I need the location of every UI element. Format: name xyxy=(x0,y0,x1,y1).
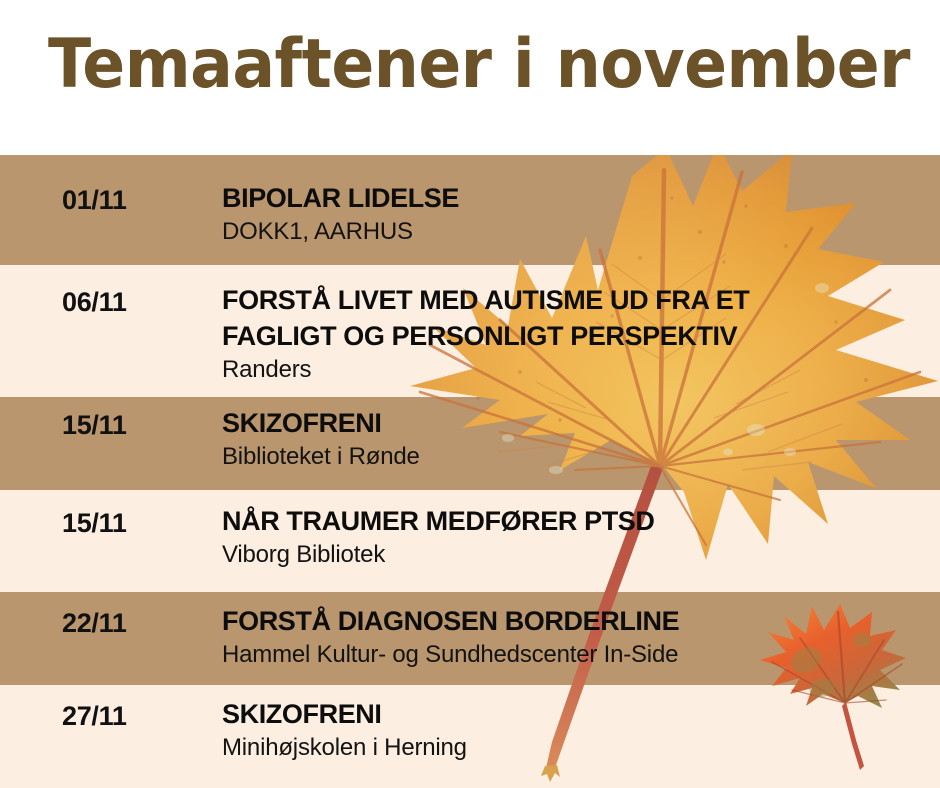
event-title: BIPOLAR LIDELSE xyxy=(222,180,930,216)
poster-canvas: 01/11BIPOLAR LIDELSEDOKK1, AARHUS06/11FO… xyxy=(0,0,940,788)
event-venue: Randers xyxy=(222,355,930,385)
event-body: SKIZOFRENIBiblioteket i Rønde xyxy=(222,405,930,472)
event-title: SKIZOFRENI xyxy=(222,405,930,441)
event-venue: DOKK1, AARHUS xyxy=(222,217,930,247)
event-date: 27/11 xyxy=(62,701,127,731)
event-body: FORSTÅ DIAGNOSEN BORDERLINEHammel Kultur… xyxy=(222,603,930,670)
event-title: FORSTÅ LIVET MED AUTISME UD FRA ET FAGLI… xyxy=(222,282,930,354)
title-bar: Temaaftener i november xyxy=(0,0,940,155)
event-title: FORSTÅ DIAGNOSEN BORDERLINE xyxy=(222,603,930,639)
event-date: 15/11 xyxy=(62,508,127,538)
event-title: NÅR TRAUMER MEDFØRER PTSD xyxy=(222,503,930,539)
event-venue: Hammel Kultur- og Sundhedscenter In-Side xyxy=(222,640,930,670)
event-body: SKIZOFRENIMinihøjskolen i Herning xyxy=(222,696,930,763)
event-body: BIPOLAR LIDELSEDOKK1, AARHUS xyxy=(222,180,930,247)
event-body: NÅR TRAUMER MEDFØRER PTSDViborg Bibliote… xyxy=(222,503,930,570)
event-venue: Minihøjskolen i Herning xyxy=(222,733,930,763)
event-date: 06/11 xyxy=(62,287,127,317)
event-date: 15/11 xyxy=(62,410,127,440)
event-body: FORSTÅ LIVET MED AUTISME UD FRA ET FAGLI… xyxy=(222,282,930,385)
page-title: Temaaftener i november xyxy=(48,26,910,104)
event-venue: Biblioteket i Rønde xyxy=(222,442,930,472)
event-date: 01/11 xyxy=(62,185,127,215)
event-title: SKIZOFRENI xyxy=(222,696,930,732)
event-date: 22/11 xyxy=(62,608,127,638)
event-venue: Viborg Bibliotek xyxy=(222,540,930,570)
